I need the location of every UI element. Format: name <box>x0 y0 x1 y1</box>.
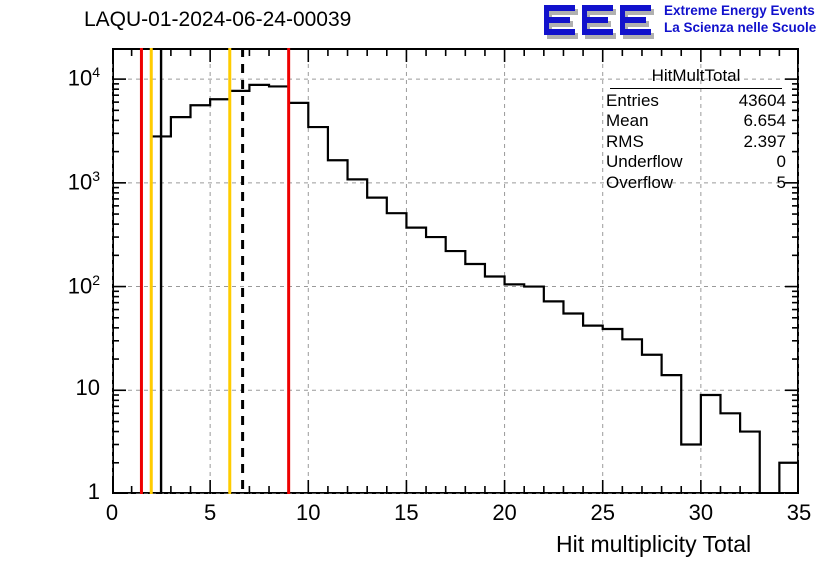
stats-row-underflow: Underflow0 <box>604 152 788 173</box>
eee-logo-mark <box>542 2 662 40</box>
x-tick-label-7: 35 <box>759 500 836 526</box>
eee-logo: Extreme Energy Events La Scienza nelle S… <box>542 2 832 40</box>
stats-row-rms: RMS2.397 <box>604 132 788 153</box>
x-tick-label-3: 15 <box>366 500 446 526</box>
y-tick-label-3: 103 <box>0 168 100 195</box>
stats-key: Overflow <box>606 173 673 194</box>
x-tick-label-1: 5 <box>170 500 250 526</box>
stats-key: Entries <box>606 91 659 112</box>
stats-key: RMS <box>606 132 644 153</box>
x-tick-label-0: 0 <box>72 500 152 526</box>
eee-logo-line2: La Scienza nelle Scuole <box>664 19 834 36</box>
stats-value: 43604 <box>739 91 786 112</box>
stats-key: Underflow <box>606 152 683 173</box>
x-tick-label-6: 30 <box>661 500 741 526</box>
stats-row-mean: Mean6.654 <box>604 111 788 132</box>
stats-key: Mean <box>606 111 649 132</box>
stats-value: 2.397 <box>743 132 786 153</box>
eee-logo-text: Extreme Energy Events La Scienza nelle S… <box>664 2 834 36</box>
stats-row-entries: Entries43604 <box>604 91 788 112</box>
y-tick-label-2: 102 <box>0 272 100 299</box>
x-axis-title: Hit multiplicity Total <box>556 531 751 558</box>
eee-logo-line1: Extreme Energy Events <box>664 2 834 19</box>
stats-value: 5 <box>777 173 786 194</box>
x-tick-label-2: 10 <box>268 500 348 526</box>
root-canvas: LAQU-01-2024-06-24-00039 Extreme Energy … <box>0 0 836 572</box>
stats-box-title: HitMultTotal <box>610 66 782 89</box>
stats-box: HitMultTotal Entries43604Mean6.654RMS2.3… <box>604 66 788 193</box>
y-tick-label-1: 10 <box>0 375 100 401</box>
page-title: LAQU-01-2024-06-24-00039 <box>84 8 351 32</box>
stats-row-overflow: Overflow5 <box>604 173 788 194</box>
x-tick-label-5: 25 <box>563 500 643 526</box>
stats-box-rows: Entries43604Mean6.654RMS2.397Underflow0O… <box>604 91 788 194</box>
stats-value: 6.654 <box>743 111 786 132</box>
y-tick-label-4: 104 <box>0 64 100 91</box>
stats-value: 0 <box>777 152 786 173</box>
x-tick-label-4: 20 <box>465 500 545 526</box>
